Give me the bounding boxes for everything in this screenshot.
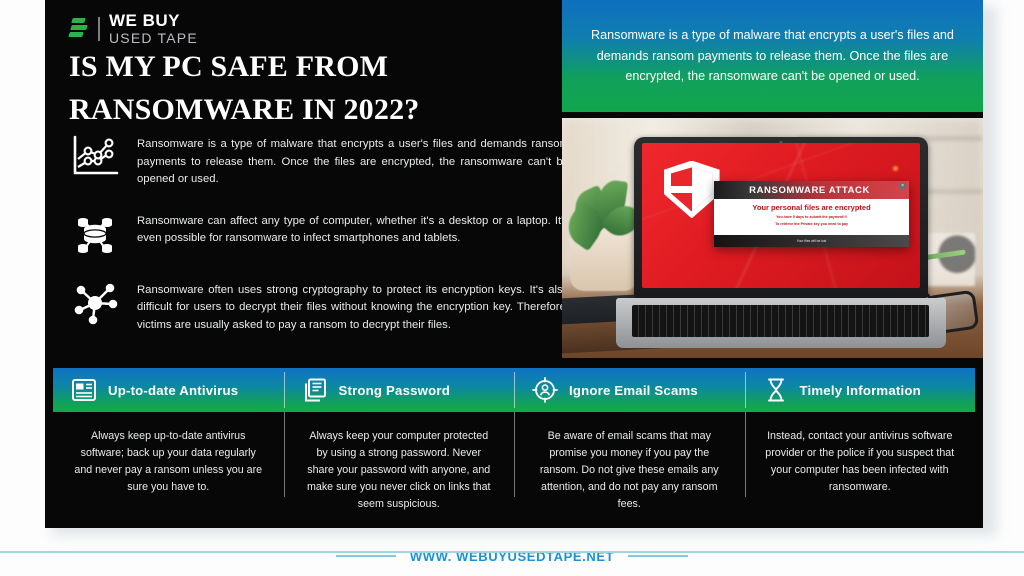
highlight-panel-text: Ransomware is a type of malware that enc… [587,25,959,86]
footer-rule-left [336,555,396,557]
tips-card-body: Be aware of email scams that may promise… [514,412,745,524]
tips-cards: Up-to-date Antivirus Strong P [45,368,983,528]
poster: WE BUY USED TAPE IS MY PC SAFE FROM RANS… [45,0,983,528]
ransomware-dialog-line2: To retrieve the Private key you need to … [714,222,909,226]
tips-card-title: Ignore Email Scams [569,383,698,398]
laptop-lid: RANSOMWARE ATTACK × Your personal files … [634,137,929,298]
laptop-base [616,298,946,349]
tips-card-header-row: Up-to-date Antivirus Strong P [53,368,975,412]
ransomware-dialog-titlebar: RANSOMWARE ATTACK × [714,181,909,200]
tips-card-header-password[interactable]: Strong Password [284,368,515,412]
footer: WWW. WEBUYUSEDTAPE.NET [0,536,1024,576]
page-title: IS MY PC SAFE FROM RANSOMWARE IN 2022? [69,46,539,131]
hourglass-icon [763,377,789,403]
tips-card-title: Up-to-date Antivirus [108,383,238,398]
ransomware-dialog-heading: Your personal files are encrypted [714,203,909,212]
ransomware-dialog-footer: Your files will be lost [714,235,909,247]
logo-divider [98,17,100,41]
bullet-item: Ransomware is a type of malware that enc… [69,133,569,189]
documents-icon [302,377,328,403]
ransomware-dialog-line1: You have 5 days to submit the payment!!! [714,215,909,219]
footer-baseline [0,551,1024,553]
bullet-item: Ransomware can affect any type of comput… [69,210,569,258]
tips-card-header-email-scams[interactable]: Ignore Email Scams [514,368,745,412]
footer-rule-right [628,555,688,557]
laptop: RANSOMWARE ATTACK × Your personal files … [634,137,929,348]
laptop-screen: RANSOMWARE ATTACK × Your personal files … [642,143,921,288]
ransomware-dialog-title: RANSOMWARE ATTACK [749,185,870,196]
tips-card-body: Always keep your computer protected by u… [284,412,515,524]
database-network-icon [69,210,121,258]
ransomware-dialog: RANSOMWARE ATTACK × Your personal files … [714,181,909,247]
bullet-item: Ransomware often uses strong cryptograph… [69,279,569,335]
bullet-text: Ransomware is a type of malware that enc… [137,133,569,189]
tips-card-header-timely-info[interactable]: Timely Information [745,368,976,412]
ransomware-dialog-body: Your personal files are encrypted You ha… [714,199,909,235]
tips-card-title: Strong Password [339,383,450,398]
target-person-icon [532,377,558,403]
tips-card-header-antivirus[interactable]: Up-to-date Antivirus [53,368,284,412]
antivirus-card-icon [71,377,97,403]
network-hub-icon [69,279,121,327]
infographic-page: WE BUY USED TAPE IS MY PC SAFE FROM RANS… [0,0,1024,576]
logo-line2: USED TAPE [109,31,198,45]
tips-card-body: Always keep up-to-date antivirus softwar… [53,412,284,524]
line-chart-icon [69,133,121,181]
tips-card-title: Timely Information [800,383,921,398]
highlight-panel: Ransomware is a type of malware that enc… [562,0,983,112]
close-icon[interactable]: × [899,183,906,190]
brand-logo[interactable]: WE BUY USED TAPE [69,12,198,45]
bullet-text: Ransomware often uses strong cryptograph… [137,279,569,335]
green-tape-stack-icon [69,16,89,42]
logo-line1: WE BUY [109,12,198,29]
bullet-list: Ransomware is a type of malware that enc… [69,133,569,355]
tips-card-body: Instead, contact your antivirus software… [745,412,976,524]
bullet-text: Ransomware can affect any type of comput… [137,210,569,248]
tips-card-body-row: Always keep up-to-date antivirus softwar… [53,412,975,524]
logo-wordmark: WE BUY USED TAPE [109,12,198,45]
ransomware-laptop-photo: RANSOMWARE ATTACK × Your personal files … [562,118,983,358]
laptop-keyboard [632,305,929,337]
